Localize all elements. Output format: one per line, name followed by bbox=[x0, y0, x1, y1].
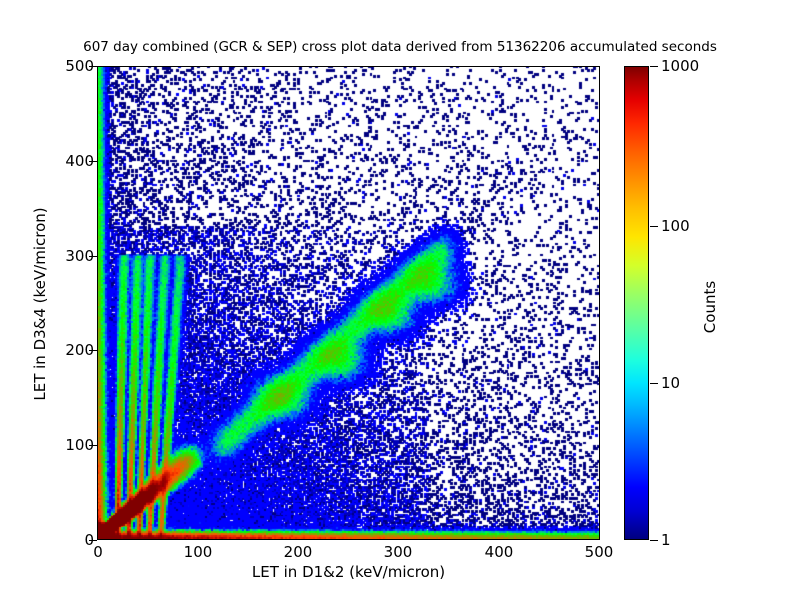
scatter-plot-area bbox=[97, 66, 600, 540]
colorbar-tick-mark bbox=[650, 226, 658, 227]
colorbar-label-10: 10 bbox=[661, 376, 680, 391]
x-tick-label-400: 400 bbox=[464, 545, 534, 560]
y-tick-label-500: 500 bbox=[34, 59, 94, 74]
y-axis-label: LET in D3&4 (keV/micron) bbox=[31, 184, 49, 424]
colorbar-label-1000: 1000 bbox=[661, 59, 699, 74]
colorbar-tick-mark bbox=[650, 540, 658, 541]
colorbar-title: Counts bbox=[701, 237, 719, 377]
y-tick-label-100: 100 bbox=[34, 438, 94, 453]
colorbar-label-100: 100 bbox=[661, 219, 690, 234]
x-tick-label-300: 300 bbox=[363, 545, 433, 560]
x-tick-label-500: 500 bbox=[564, 545, 634, 560]
colorbar-tick-mark bbox=[650, 66, 658, 67]
x-tick-label-0: 0 bbox=[63, 545, 133, 560]
x-tick-label-200: 200 bbox=[263, 545, 333, 560]
y-tick-label-400: 400 bbox=[34, 154, 94, 169]
colorbar-gradient bbox=[624, 66, 649, 540]
colorbar-tick-mark bbox=[650, 383, 658, 384]
title-line-1: 607 day combined (GCR & SEP) cross plot … bbox=[0, 39, 800, 57]
x-tick-label-100: 100 bbox=[163, 545, 233, 560]
x-axis-label: LET in D1&2 (keV/micron) bbox=[97, 563, 600, 581]
density-heatmap-canvas bbox=[98, 67, 599, 539]
colorbar-label-1: 1 bbox=[661, 533, 671, 548]
figure: 607 day combined (GCR & SEP) cross plot … bbox=[0, 0, 800, 600]
